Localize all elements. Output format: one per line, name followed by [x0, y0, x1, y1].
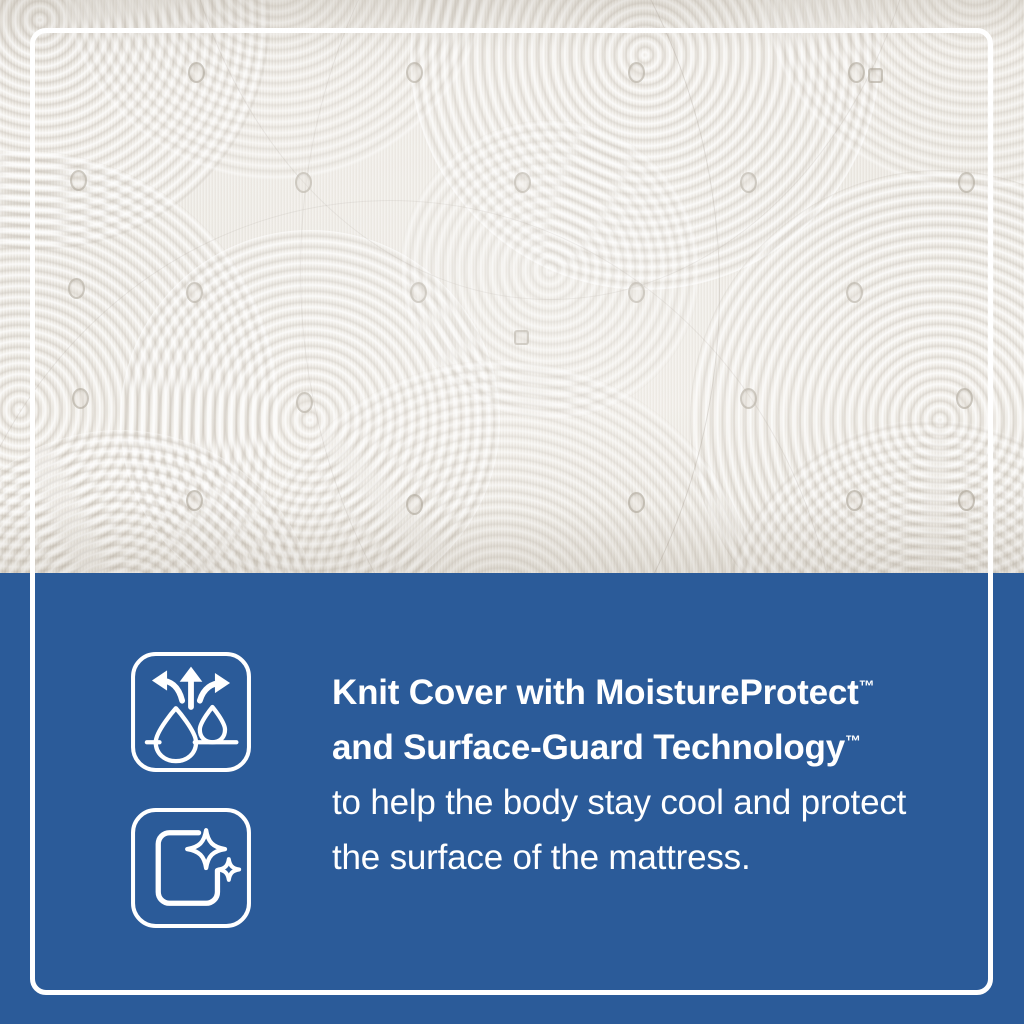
feature-text-block: Knit Cover with MoistureProtect™ and Sur…	[256, 645, 968, 885]
feature-line-2-text: and Surface-Guard Technology	[332, 728, 845, 767]
feature-line-1-text: Knit Cover with MoistureProtect	[332, 673, 859, 712]
feature-line-4-text: the surface of the mattress.	[332, 838, 751, 877]
trademark-symbol: ™	[859, 678, 875, 695]
trademark-symbol: ™	[845, 733, 861, 750]
mattress-cover-photo	[0, 0, 1024, 573]
feature-line-3-text: to help the body stay cool and protect	[332, 783, 906, 822]
feature-line-4: the surface of the mattress.	[332, 830, 968, 885]
feature-icon-list	[128, 645, 256, 931]
feature-line-2: and Surface-Guard Technology™	[332, 720, 968, 775]
feature-line-3: to help the body stay cool and protect	[332, 775, 968, 830]
surface-guard-sparkle-icon	[128, 805, 254, 931]
moisture-wicking-icon	[128, 649, 254, 775]
feature-content: Knit Cover with MoistureProtect™ and Sur…	[128, 645, 968, 931]
feature-line-1: Knit Cover with MoistureProtect™	[332, 665, 968, 720]
feature-card: Knit Cover with MoistureProtect™ and Sur…	[0, 0, 1024, 1024]
photo-shading	[0, 0, 1024, 573]
